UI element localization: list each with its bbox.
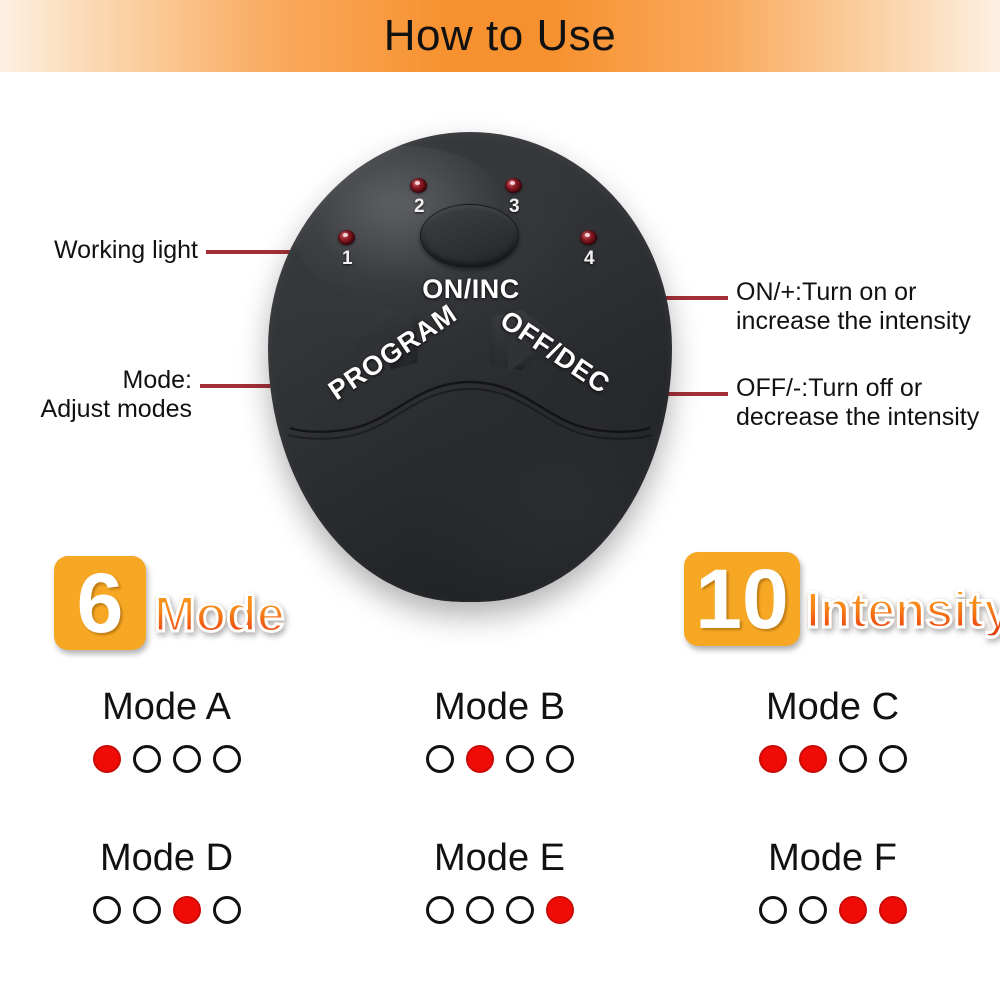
mode-b-dot-2 [466, 745, 494, 773]
callout-on-increase-line-1: ON/+:Turn on or [736, 278, 996, 307]
mode-e-dot-2 [466, 896, 494, 924]
mode-cell-f: Mode F [666, 837, 999, 924]
led-indicator-3 [505, 178, 522, 193]
mode-f-dot-1 [759, 896, 787, 924]
led-indicator-2 [410, 178, 427, 193]
mode-cell-a: Mode A [0, 686, 333, 773]
mode-row-1: Mode A Mode B Mode C [0, 686, 1000, 773]
intensity-count-word: Intensity [806, 585, 1000, 635]
intensity-count-box: 10 [684, 552, 800, 646]
mode-d-dot-1 [93, 896, 121, 924]
mode-f-dots [759, 896, 907, 924]
callout-mode: Mode: Adjust modes [0, 366, 192, 424]
intensity-count-number: 10 [695, 557, 788, 641]
mode-grid: Mode A Mode B Mode C [0, 686, 1000, 924]
mode-a-dots [93, 745, 241, 773]
device-body [268, 132, 672, 602]
mode-a-title: Mode A [102, 686, 231, 729]
mode-d-dot-2 [133, 896, 161, 924]
mode-e-dot-4 [546, 896, 574, 924]
mode-f-title: Mode F [768, 837, 897, 880]
mode-a-dot-1 [93, 745, 121, 773]
led-indicator-4 [580, 230, 597, 245]
mode-cell-d: Mode D [0, 837, 333, 924]
mode-b-dot-1 [426, 745, 454, 773]
intensity-count-badge: 10 Intensity [684, 552, 1000, 646]
mode-a-dot-2 [133, 745, 161, 773]
callout-off-decrease-line-1: OFF/-:Turn off or [736, 374, 1000, 403]
mode-e-title: Mode E [434, 837, 565, 880]
device-illustration: 1 2 3 4 ON/INC PROGRAM OFF/DEC [268, 132, 672, 602]
callout-working-light: Working light [12, 236, 198, 265]
mode-c-dot-2 [799, 745, 827, 773]
mode-c-dot-1 [759, 745, 787, 773]
on-inc-button[interactable] [420, 204, 519, 268]
mode-d-dot-3 [173, 896, 201, 924]
mode-count-word: Mode [154, 589, 285, 639]
callout-on-increase-line-2: increase the intensity [736, 307, 996, 336]
mode-d-dot-4 [213, 896, 241, 924]
callout-mode-line-2: Adjust modes [0, 395, 192, 424]
mode-cell-b: Mode B [333, 686, 666, 773]
mode-d-title: Mode D [100, 837, 233, 880]
mode-d-dots [93, 896, 241, 924]
mode-row-2: Mode D Mode E Mode F [0, 837, 1000, 924]
led-number-2: 2 [414, 196, 425, 218]
mode-c-dots [759, 745, 907, 773]
page-title: How to Use [0, 0, 1000, 72]
led-indicator-1 [338, 230, 355, 245]
mode-f-dot-4 [879, 896, 907, 924]
mode-cell-e: Mode E [333, 837, 666, 924]
mode-c-dot-3 [839, 745, 867, 773]
mode-b-dots [426, 745, 574, 773]
led-number-1: 1 [342, 248, 353, 270]
mode-count-badge: 6 Mode [54, 556, 285, 650]
led-number-3: 3 [509, 196, 520, 218]
mode-cell-c: Mode C [666, 686, 999, 773]
mode-f-dot-2 [799, 896, 827, 924]
callout-off-decrease-line-2: decrease the intensity [736, 403, 1000, 432]
mode-b-title: Mode B [434, 686, 565, 729]
mode-c-title: Mode C [766, 686, 899, 729]
mode-count-box: 6 [54, 556, 146, 650]
mode-count-number: 6 [77, 561, 124, 645]
mode-a-dot-4 [213, 745, 241, 773]
led-number-4: 4 [584, 248, 595, 270]
mode-a-dot-3 [173, 745, 201, 773]
callout-off-decrease: OFF/-:Turn off or decrease the intensity [736, 374, 1000, 432]
mode-b-dot-4 [546, 745, 574, 773]
mode-b-dot-3 [506, 745, 534, 773]
callout-working-light-line-1: Working light [12, 236, 198, 265]
mode-c-dot-4 [879, 745, 907, 773]
callout-mode-line-1: Mode: [0, 366, 192, 395]
how-to-use-infographic: How to Use 1 2 3 4 ON/INC [0, 0, 1000, 1000]
mode-e-dot-3 [506, 896, 534, 924]
mode-e-dots [426, 896, 574, 924]
mode-e-dot-1 [426, 896, 454, 924]
callout-on-increase: ON/+:Turn on or increase the intensity [736, 278, 996, 336]
mode-f-dot-3 [839, 896, 867, 924]
